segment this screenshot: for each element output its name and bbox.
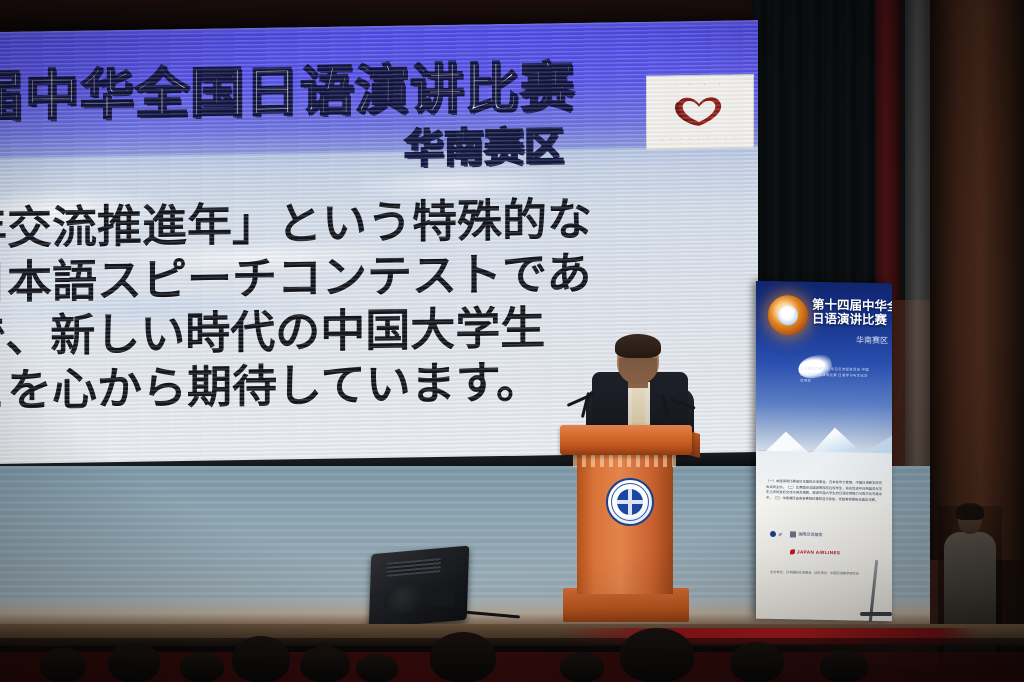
university-globe-emblem [606, 478, 654, 526]
banner-sponsor-row: JF 国際交流基金 [770, 523, 880, 547]
slide-subtitle: 华南赛区 [404, 127, 564, 170]
globe-icon [617, 489, 643, 515]
seal-inner-disc [778, 305, 798, 325]
logo-top-caption: · · · · [647, 81, 753, 89]
audience-head [820, 650, 868, 682]
stage-curtain [752, 0, 930, 300]
sponsor-label-2: 国際交流基金 [798, 532, 822, 538]
audience-head [232, 636, 290, 682]
podium-top-surface [560, 425, 692, 455]
audience-head [300, 646, 350, 682]
podium-banner-text [573, 455, 677, 467]
contest-seal-emblem [768, 295, 808, 336]
jf-heart-logo: · · · · · · · · · · · · · [646, 74, 754, 150]
sponsor-dot-icon [770, 531, 776, 537]
logo-bottom-caption: · · · · · · · · · [647, 135, 753, 143]
right-wall [930, 0, 1024, 560]
heart-swirl-icon [669, 91, 731, 132]
banner-footer-text: 主办单位：日本国际交流基金 · 协办单位：中国日语教学研究会 [770, 569, 880, 576]
banner-mid-text: 主办单位介绍文字 中日交流促进活动 中国第十四届日语演讲比赛 日语学习与文化交流… [800, 366, 870, 385]
banner-paragraph: （一）本届演讲比赛由日本国际交流基金、日本驻华大使馆、中国日语教学研究会共同主办… [766, 479, 882, 504]
audience-head [108, 642, 160, 682]
banner-region: 华南赛区 [856, 335, 888, 347]
slide-title: 届中华全国日语演讲比赛 [0, 60, 630, 124]
audience-head [430, 632, 496, 682]
red-curtain-strip [875, 0, 901, 300]
banner-title: 第十四届中华全 日语演讲比赛 [812, 298, 892, 328]
sponsor-logo-jf: JF [770, 531, 782, 537]
presenter-face-shadow [619, 358, 657, 384]
monitor-driver-cone [383, 584, 424, 616]
audience-head [560, 652, 604, 682]
monitor-port [427, 591, 453, 607]
sponsor-label-1: JF [778, 532, 782, 537]
airline-sponsor-label: JAPAN AIRLINES [797, 549, 840, 555]
sponsor-square-icon [790, 531, 796, 537]
audience-head [180, 652, 224, 682]
front-row-audience-silhouettes [0, 612, 1024, 682]
audience-head [356, 654, 398, 682]
audience-head [620, 628, 694, 682]
audience-head [730, 642, 784, 682]
airline-sponsor-logo: JAPAN AIRLINES [790, 549, 840, 555]
audience-head [40, 648, 86, 682]
stage-photograph: 届中华全国日语演讲比赛 华南赛区 · · · · · · · · · · · ·… [0, 0, 1024, 682]
presenter-hair [615, 334, 661, 358]
banner-upper-panel: 第十四届中华全 日语演讲比赛 华南赛区 主办单位介绍文字 中日交流促进活动 中国… [756, 281, 892, 454]
banner-title-line-2: 日语演讲比赛 [812, 312, 892, 328]
sponsor-logo-foundation: 国際交流基金 [790, 531, 822, 538]
crane-bird-icon [790, 549, 795, 554]
monitor-grill [386, 558, 440, 577]
rollup-banner: 第十四届中华全 日语演讲比赛 华南赛区 主办单位介绍文字 中日交流促进活动 中国… [756, 281, 892, 622]
